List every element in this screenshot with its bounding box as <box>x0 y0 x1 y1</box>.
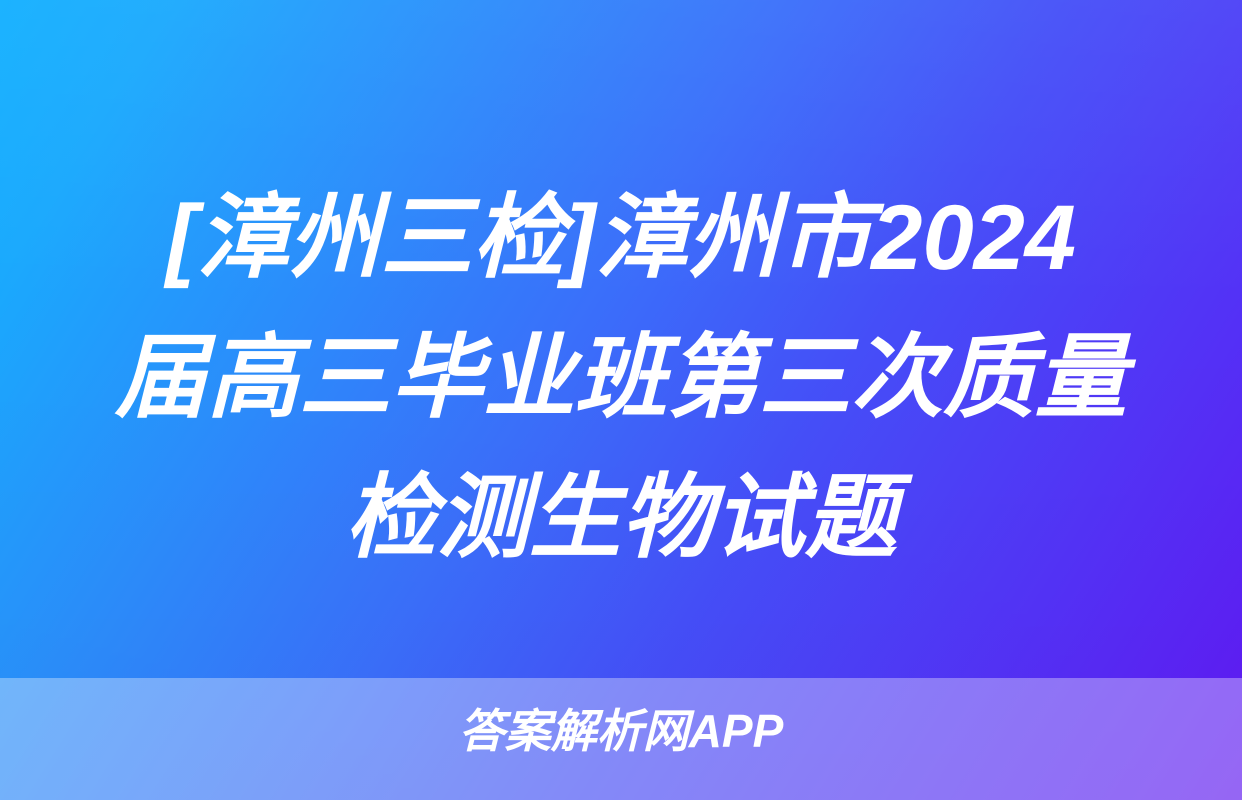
title-line-3: 检测生物试题 <box>46 448 1196 588</box>
watermark-banner: 答案解析网APP <box>0 678 1242 800</box>
page-title: [漳州三检]漳州市2024 届高三毕业班第三次质量 检测生物试题 <box>0 168 1242 588</box>
watermark-app-label: 答案解析网APP <box>459 708 784 754</box>
poster-background: [漳州三检]漳州市2024 届高三毕业班第三次质量 检测生物试题 答案解析网AP… <box>0 0 1242 800</box>
title-line-2: 届高三毕业班第三次质量 <box>46 308 1196 448</box>
title-line-1: [漳州三检]漳州市2024 <box>46 168 1196 308</box>
